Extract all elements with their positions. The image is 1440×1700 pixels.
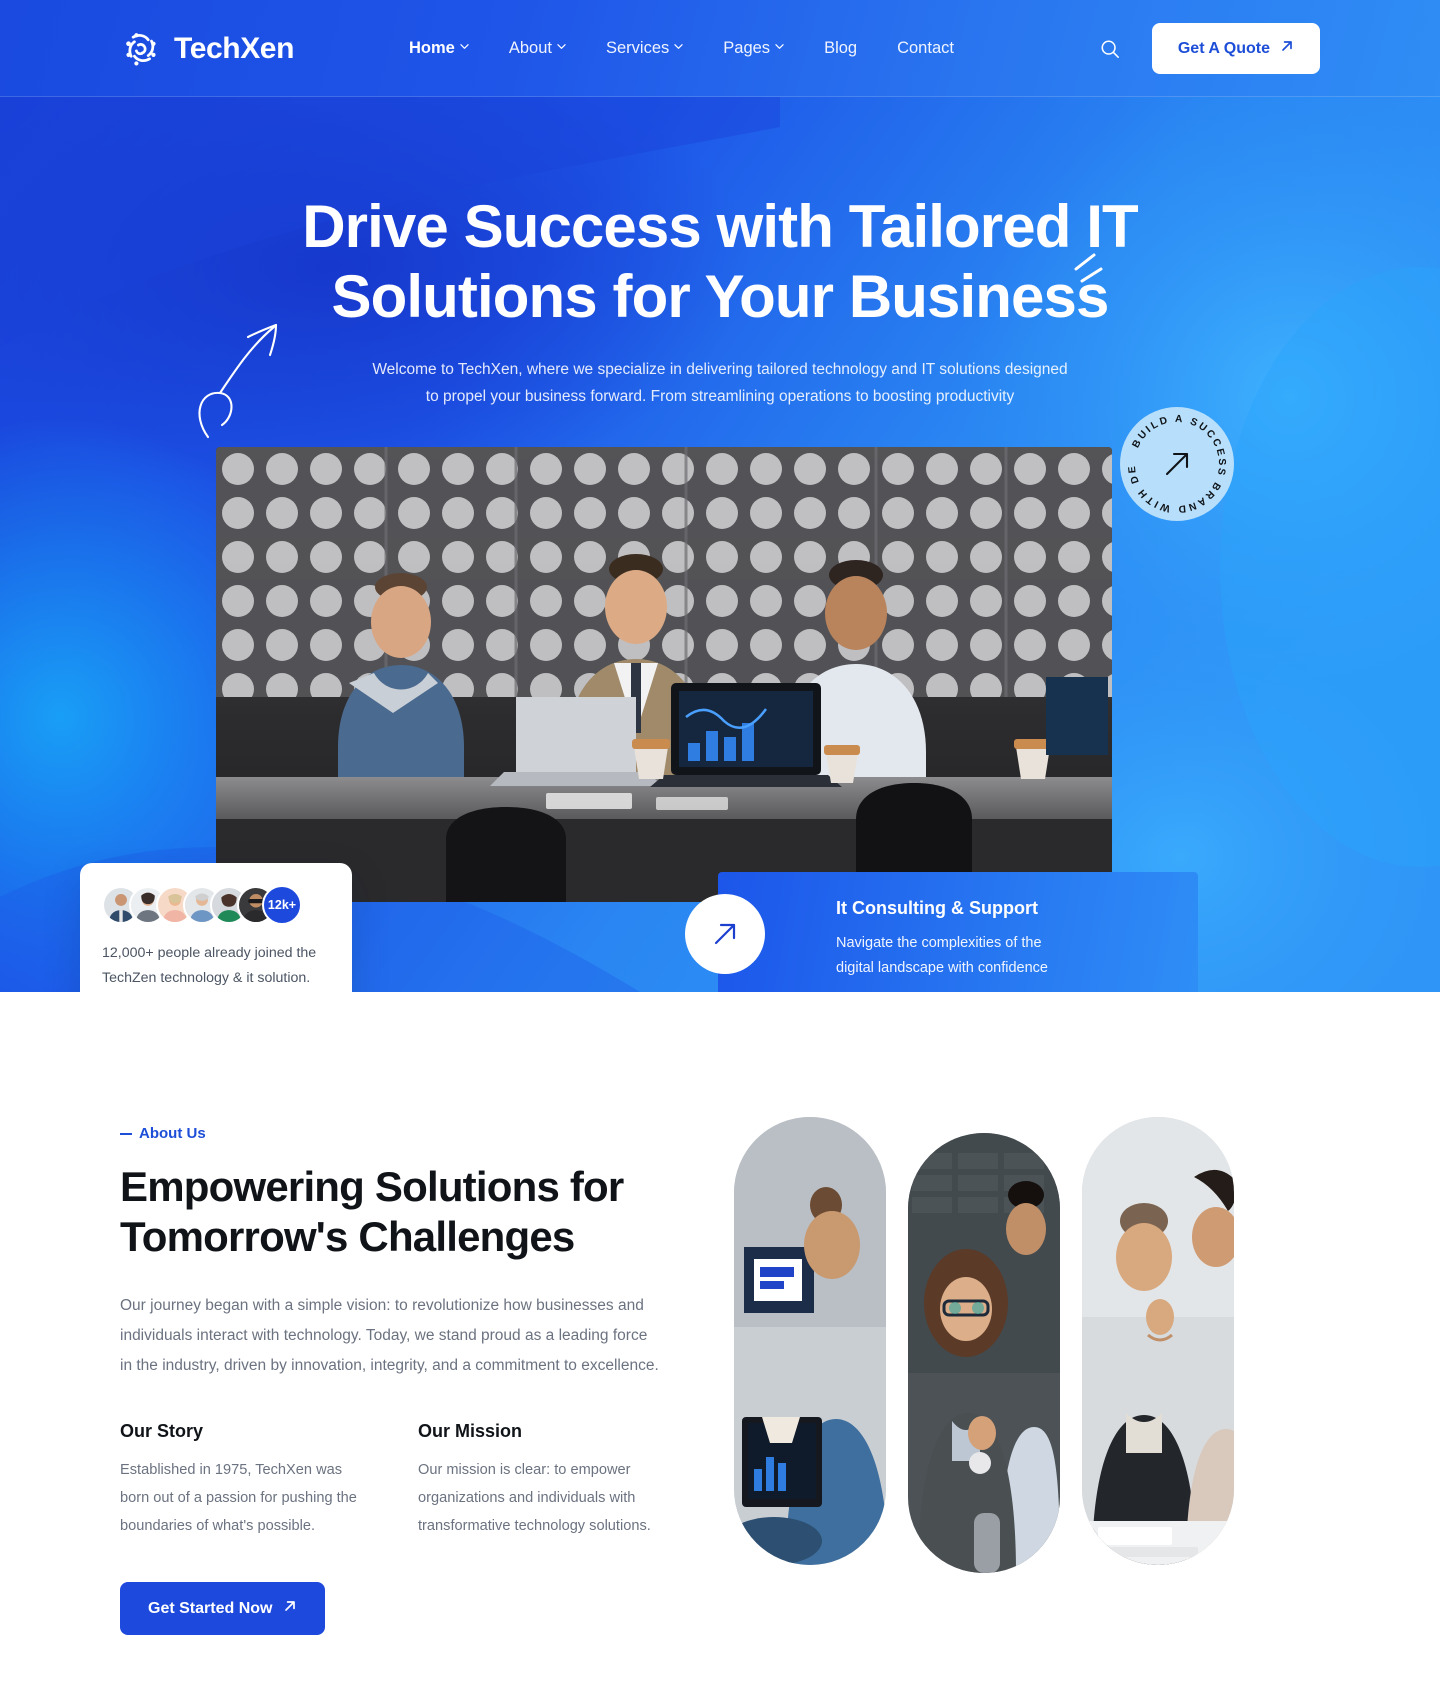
site-header: TechXen Home About Services [0,0,1440,97]
chevron-down-icon [674,42,683,51]
hero-title: Drive Success with Tailored IT Solutions… [120,97,1320,331]
it-consulting-card[interactable]: It Consulting & Support Navigate the com… [718,872,1198,992]
primary-navigation: Home About Services [409,39,954,58]
hero-subtitle-line-1: Welcome to TechXen, where we specialize … [372,361,1067,378]
hero-subtitle: Welcome to TechXen, where we specialize … [370,357,1070,410]
our-mission-heading: Our Mission [418,1421,660,1442]
avatar-count-badge: 12k+ [262,885,302,925]
about-column-our-mission: Our Mission Our mission is clear: to emp… [418,1421,660,1540]
about-photo-3 [1082,1117,1234,1565]
header-actions: Get A Quote [1100,23,1320,74]
get-started-now-label: Get Started Now [148,1600,272,1618]
it-consulting-desc-line-2: digital landscape with confidence [836,960,1048,976]
brand-logo[interactable]: TechXen [120,28,294,70]
hero-subtitle-line-2: to propel your business forward. From st… [426,388,1014,405]
nav-label-about: About [509,39,552,58]
arrow-up-right-icon [1280,39,1294,58]
chevron-down-icon [557,42,566,51]
nav-label-pages: Pages [723,39,770,58]
hero-team-photo [216,447,1112,902]
about-eyebrow-label: About Us [139,1125,206,1142]
about-columns: Our Story Established in 1975, TechXen w… [120,1421,700,1540]
about-title: Empowering Solutions for Tomorrow's Chal… [120,1162,700,1263]
our-mission-text: Our mission is clear: to empower organiz… [418,1456,660,1540]
nav-label-services: Services [606,39,669,58]
avatar-group: 12k+ [102,885,330,925]
arrow-up-right-icon [685,894,765,974]
get-a-quote-button[interactable]: Get A Quote [1152,23,1320,74]
techxen-spiral-logo-icon [120,28,162,70]
sparkle-lines-doodle-icon [1068,247,1112,296]
nav-label-home: Home [409,39,455,58]
about-gallery [734,1117,1234,1573]
nav-item-pages[interactable]: Pages [723,39,784,58]
about-content: About Us Empowering Solutions for Tomorr… [120,1117,700,1635]
it-consulting-desc-line-1: Navigate the complexities of the [836,935,1042,951]
nav-item-contact[interactable]: Contact [897,39,954,58]
nav-item-services[interactable]: Services [606,39,683,58]
it-consulting-title: It Consulting & Support [836,898,1168,919]
about-column-our-story: Our Story Established in 1975, TechXen w… [120,1421,362,1540]
chevron-down-icon [460,42,469,51]
joined-people-card: 12k+ 12,000+ people already joined the T… [80,863,352,992]
our-story-heading: Our Story [120,1421,362,1442]
get-a-quote-label: Get A Quote [1178,40,1270,58]
about-photo-2 [908,1133,1060,1573]
about-title-line-2: Tomorrow's Challenges [120,1213,575,1260]
nav-label-blog: Blog [824,39,857,58]
our-story-text: Established in 1975, TechXen was born ou… [120,1456,362,1540]
nav-item-blog[interactable]: Blog [824,39,857,58]
nav-label-contact: Contact [897,39,954,58]
it-consulting-desc: Navigate the complexities of the digital… [836,931,1168,982]
landing-page: TechXen Home About Services [0,0,1440,1635]
arrow-up-right-icon [283,1599,297,1618]
about-description: Our journey began with a simple vision: … [120,1291,660,1382]
about-photo-1 [734,1117,886,1565]
about-title-line-1: Empowering Solutions for [120,1163,623,1210]
hero-media: 12k+ 12,000+ people already joined the T… [216,447,1112,902]
hero-section: Drive Success with Tailored IT Solutions… [0,97,1440,992]
get-started-now-button[interactable]: Get Started Now [120,1582,325,1635]
about-section: About Us Empowering Solutions for Tomorr… [0,992,1440,1635]
search-icon[interactable] [1100,39,1120,59]
brand-name: TechXen [174,32,294,66]
dash-icon [120,1133,132,1135]
hero-title-line-2: Solutions for Your Business [332,263,1109,330]
curly-arrow-doodle-icon [190,307,286,447]
nav-item-home[interactable]: Home [409,39,469,58]
nav-item-about[interactable]: About [509,39,566,58]
chevron-down-icon [775,42,784,51]
brand-seal-badge[interactable]: BUILD A SUCCESS BRAND WITH DEMOUI [1120,407,1234,521]
hero-title-line-1: Drive Success with Tailored IT [302,193,1138,260]
about-eyebrow: About Us [120,1125,700,1142]
joined-people-text: 12,000+ people already joined the TechZe… [102,941,330,992]
